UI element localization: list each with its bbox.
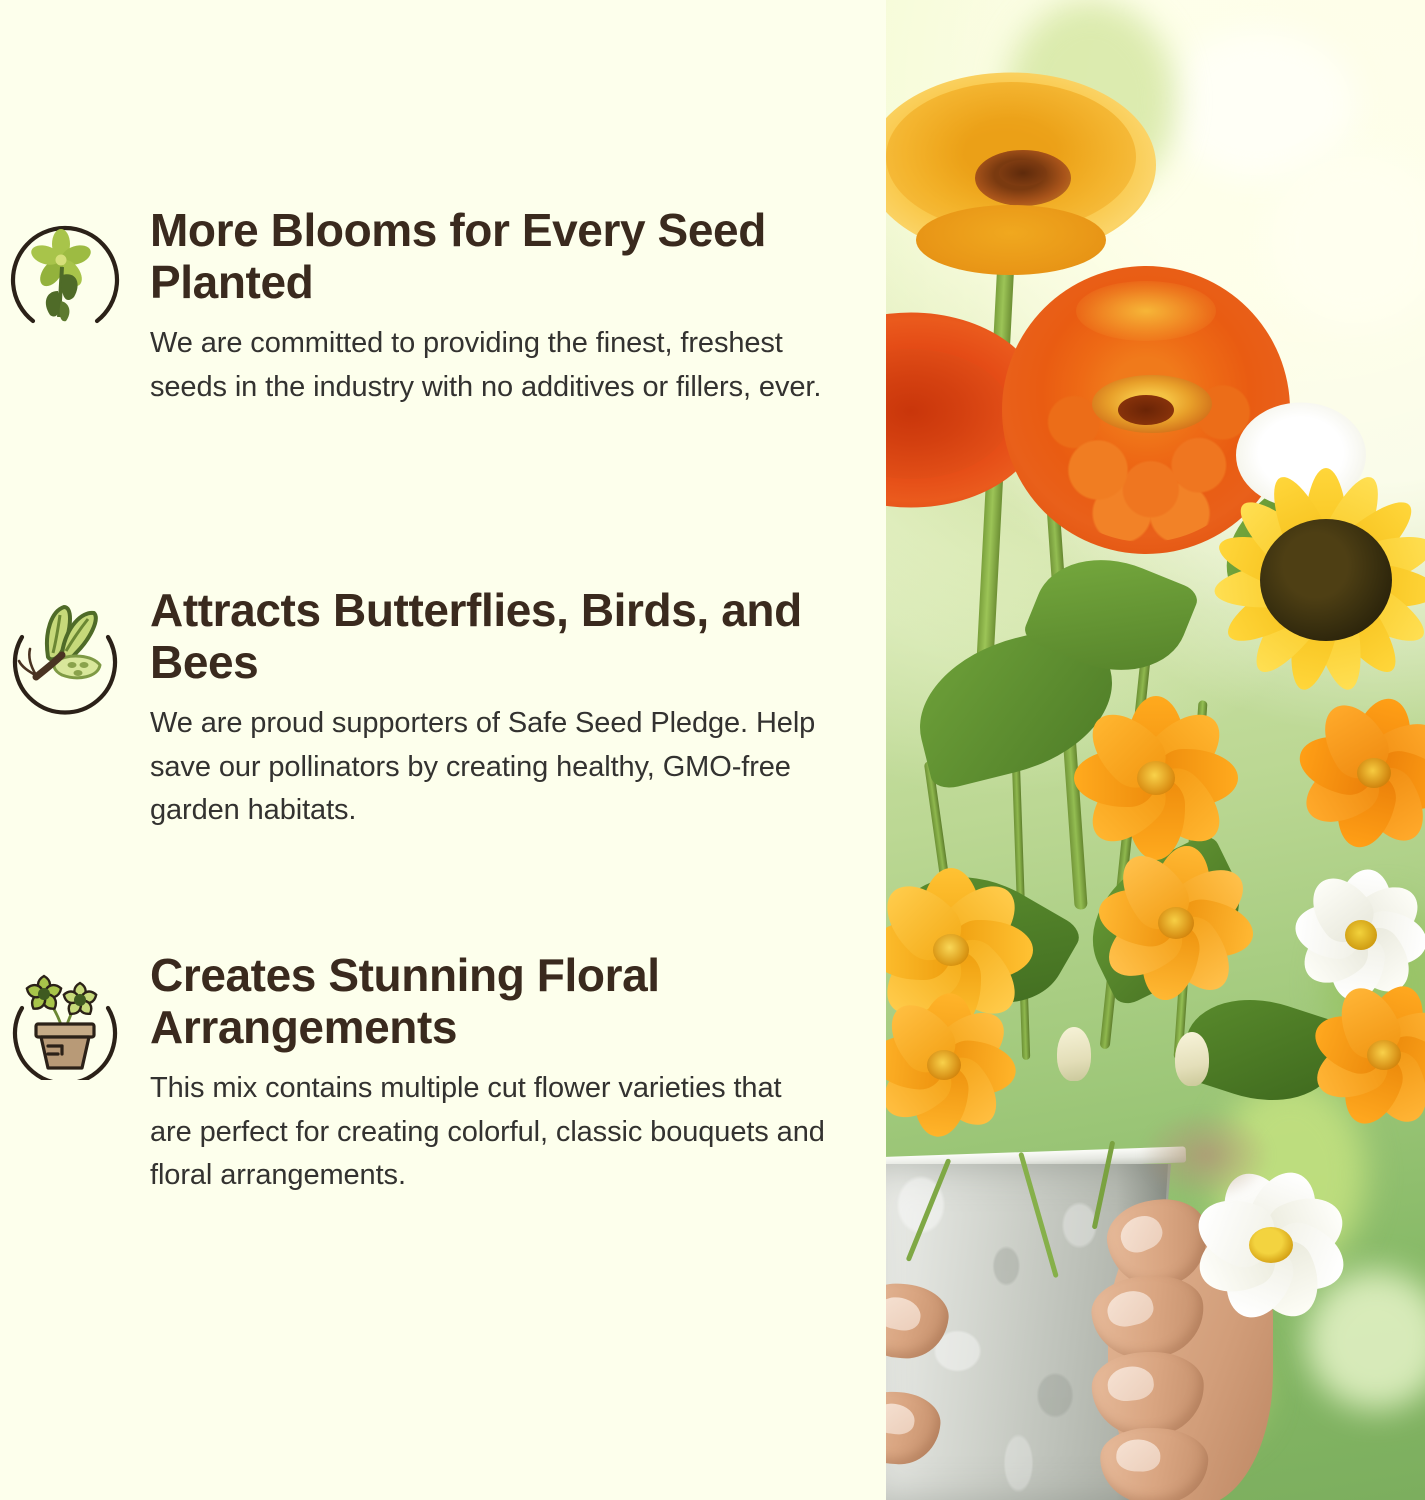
feature-text-block: More Blooms for Every Seed Planted We ar… [130,205,830,409]
feature-item-more-blooms: More Blooms for Every Seed Planted We ar… [0,205,830,409]
feature-title: Creates Stunning Floral Arrangements [150,950,830,1053]
flower-sprout-icon [0,205,130,335]
cosmos-orange-lower-left [886,990,1026,1140]
cosmos-orange-lower-right [1301,980,1425,1130]
sunflower-yellow [1176,430,1425,730]
finger [1099,1426,1210,1500]
feature-title: More Blooms for Every Seed Planted [150,205,830,308]
feature-item-floral-arrangements: Creates Stunning Floral Arrangements Thi… [0,950,830,1198]
feature-text-block: Creates Stunning Floral Arrangements Thi… [130,950,830,1198]
twine-wrap [1141,1110,1271,1200]
features-column: More Blooms for Every Seed Planted We ar… [0,0,886,1500]
potted-plant-icon [0,950,130,1080]
feature-text-block: Attracts Butterflies, Birds, and Bees We… [130,585,830,833]
cosmos-orange-2 [1086,840,1266,1005]
cosmos-orange-1 [1061,690,1251,865]
feature-item-attracts-pollinators: Attracts Butterflies, Birds, and Bees We… [0,585,830,833]
flower-bouquet-photo [886,0,1425,1500]
feature-title: Attracts Butterflies, Birds, and Bees [150,585,830,688]
feature-description: We are proud supporters of Safe Seed Ple… [150,702,830,833]
flower-bud [1172,1030,1212,1088]
cosmos-orange-right [1286,690,1425,855]
flower-bud [1054,1025,1094,1083]
butterfly-icon [0,585,130,715]
product-feature-panel: More Blooms for Every Seed Planted We ar… [0,0,1425,1500]
feature-description: This mix contains multiple cut flower va… [150,1067,830,1198]
feature-description: We are committed to providing the finest… [150,322,830,409]
